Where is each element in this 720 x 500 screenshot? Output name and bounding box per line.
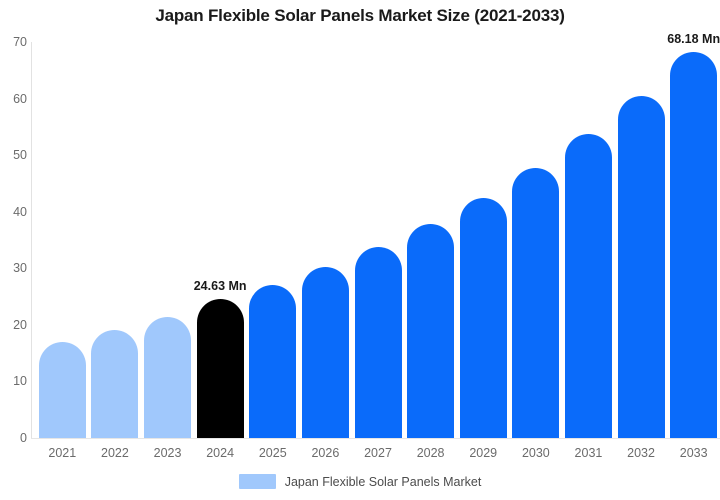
bar-value-label-2033: 68.18 Mn bbox=[667, 32, 720, 46]
legend-swatch-icon bbox=[239, 474, 276, 489]
bar-2032[interactable] bbox=[618, 96, 665, 438]
x-axis-tick-2033: 2033 bbox=[680, 446, 708, 460]
bar-2026[interactable] bbox=[302, 267, 349, 438]
bar-series: 24.63 Mn68.18 Mn bbox=[0, 0, 720, 500]
x-axis-tick-2029: 2029 bbox=[469, 446, 497, 460]
bar-2029[interactable] bbox=[460, 198, 507, 438]
x-axis-tick-2022: 2022 bbox=[101, 446, 129, 460]
bar-2031[interactable] bbox=[565, 134, 612, 438]
bar-2022[interactable] bbox=[91, 330, 138, 438]
x-axis-tick-2024: 2024 bbox=[206, 446, 234, 460]
bar-2024[interactable] bbox=[197, 299, 244, 438]
x-axis-tick-2025: 2025 bbox=[259, 446, 287, 460]
x-axis-tick-2031: 2031 bbox=[575, 446, 603, 460]
x-axis-tick-2023: 2023 bbox=[154, 446, 182, 460]
x-axis-tick-2032: 2032 bbox=[627, 446, 655, 460]
bar-2023[interactable] bbox=[144, 317, 191, 438]
bar-2030[interactable] bbox=[512, 168, 559, 438]
legend-item[interactable]: Japan Flexible Solar Panels Market bbox=[239, 474, 482, 489]
x-axis-tick-2030: 2030 bbox=[522, 446, 550, 460]
bar-2028[interactable] bbox=[407, 224, 454, 438]
x-axis-tick-2026: 2026 bbox=[311, 446, 339, 460]
bar-value-label-2024: 24.63 Mn bbox=[194, 279, 247, 293]
bar-2025[interactable] bbox=[249, 285, 296, 438]
x-axis-tick-2028: 2028 bbox=[417, 446, 445, 460]
x-axis-tick-2021: 2021 bbox=[48, 446, 76, 460]
bar-2021[interactable] bbox=[39, 342, 86, 438]
x-axis-tick-labels: 2021202220232024202520262027202820292030… bbox=[0, 446, 720, 468]
bar-2033[interactable] bbox=[670, 52, 717, 438]
x-axis-tick-2027: 2027 bbox=[364, 446, 392, 460]
chart-container: Japan Flexible Solar Panels Market Size … bbox=[0, 0, 720, 500]
chart-legend: Japan Flexible Solar Panels Market bbox=[0, 474, 720, 489]
bar-2027[interactable] bbox=[355, 247, 402, 438]
legend-label: Japan Flexible Solar Panels Market bbox=[285, 475, 482, 489]
